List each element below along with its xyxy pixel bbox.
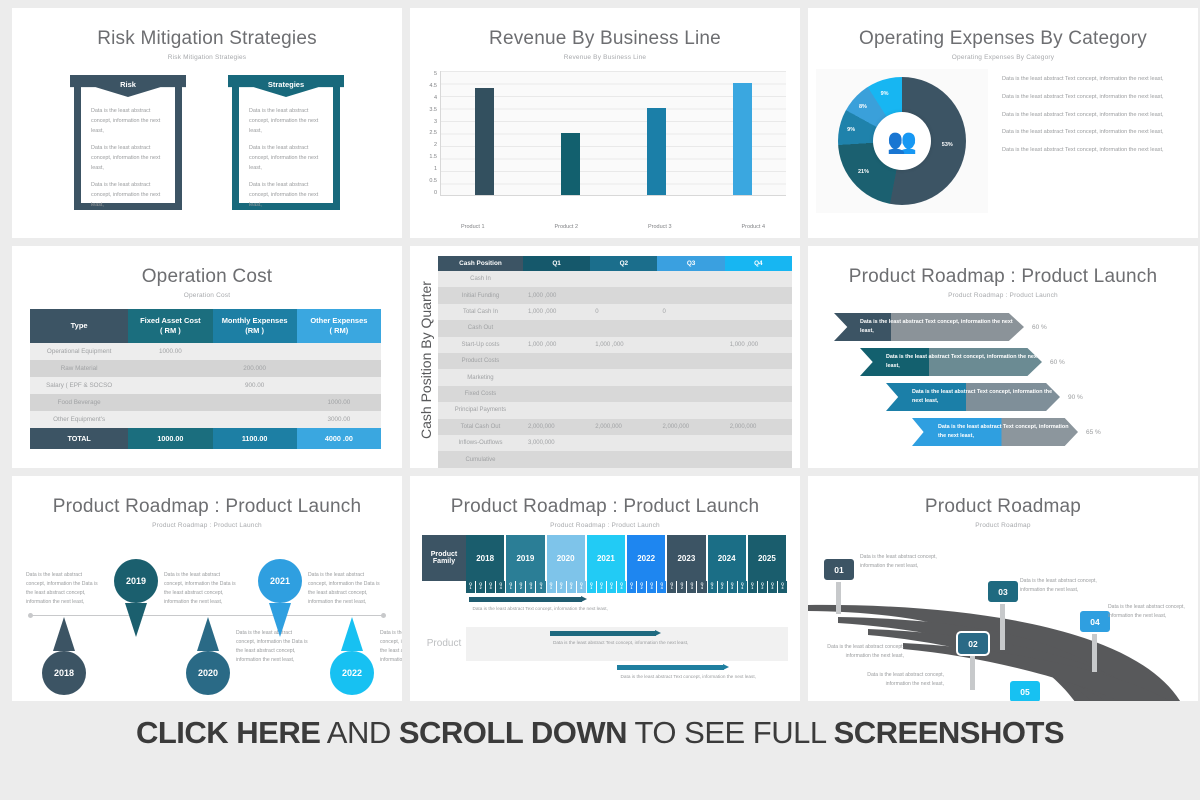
timeline: 2018Data is the least abstract concept, … (22, 537, 392, 697)
product-family-label: Product Family (422, 535, 466, 581)
gantt-quarter-row: Q1Q2Q3Q4Q1Q2Q3Q4Q1Q2Q3Q4Q1Q2Q3Q4Q1Q2Q3Q4… (422, 581, 788, 593)
table-row: Marketing (438, 369, 792, 385)
table-cell (523, 451, 590, 468)
gantt-task-label: Data is the least abstract Text concept,… (472, 605, 632, 613)
table-cell: Food Beverage (30, 394, 128, 411)
road-sign[interactable]: 05 (1008, 679, 1042, 701)
gantt-quarter[interactable]: Q4 (778, 581, 788, 593)
gantt-quarter[interactable]: Q2 (557, 581, 567, 593)
table-row: Operational Equipment1000.00 (30, 343, 381, 360)
sign-post (970, 656, 975, 690)
arrow-shape: Data is the least abstract Text concept,… (912, 418, 1078, 446)
page-title: Revenue By Business Line (410, 8, 800, 50)
sign-post (836, 582, 841, 614)
gantt-quarter[interactable]: Q2 (516, 581, 526, 593)
legend-item: Data is the least abstract Text concept,… (1002, 128, 1186, 138)
table-row: Total Cash Out2,000,0002,000,0002,000,00… (438, 419, 792, 435)
gantt-quarter[interactable]: Q1 (506, 581, 516, 593)
gantt-year[interactable]: 2018 (466, 535, 506, 581)
table-cell: 900.00 (213, 377, 297, 394)
column-header: Q3 (657, 256, 724, 271)
gantt-year[interactable]: 2024 (708, 535, 748, 581)
page-title: Product Roadmap : Product Launch (410, 476, 800, 518)
gantt-lane: Data is the least abstract Text concept,… (466, 593, 788, 627)
clipboard-paragraph: Data is the least abstract concept, info… (91, 106, 165, 136)
pin-tail-icon (53, 617, 75, 651)
gantt-quarter[interactable]: Q3 (687, 581, 697, 593)
table-cell (590, 271, 657, 287)
table-cell (297, 343, 381, 360)
gantt-quarter[interactable]: Q1 (466, 581, 476, 593)
table-cell: Total Cash In (438, 304, 523, 320)
table-cell: Salary ( EPF & SOCSO (30, 377, 128, 394)
panel-risk-mitigation: Risk Mitigation Strategies Risk Mitigati… (12, 8, 402, 238)
table-cell: 4000 .00 (297, 428, 381, 449)
table-row: Fixed Costs (438, 386, 792, 402)
panel-operating-expenses: Operating Expenses By Category Operating… (808, 8, 1198, 238)
timeline-year: 2021 (258, 559, 302, 603)
gantt-year-row: Product Family 2018201920202021202220232… (422, 535, 788, 581)
arrow-percent: 60 % (1032, 324, 1047, 331)
table-cell: Other Equipment's (30, 411, 128, 428)
table-cell (725, 386, 792, 402)
operation-cost-table: TypeFixed Asset Cost( RM )Monthly Expens… (30, 309, 381, 449)
bar-series (441, 71, 786, 195)
gantt-quarters: Q1Q2Q3Q4Q1Q2Q3Q4Q1Q2Q3Q4Q1Q2Q3Q4Q1Q2Q3Q4… (466, 581, 788, 593)
panel-roadmap-timeline: Product Roadmap : Product Launch Product… (12, 476, 402, 701)
gantt-year[interactable]: 2022 (627, 535, 667, 581)
cash-position-table: Cash PositionQ1Q2Q3Q4 Cash InInitial Fun… (438, 256, 792, 468)
x-tick-label: Product 3 (630, 224, 690, 230)
table-cell (657, 320, 724, 336)
table-body: Cash InInitial Funding1,000 ,000Total Ca… (438, 271, 792, 468)
gantt-lanes-wrap: Product Data is the least abstract Text … (422, 593, 788, 695)
table-row: Total Cash In1,000 ,00000 (438, 304, 792, 320)
gantt-lanes: Data is the least abstract Text concept,… (466, 593, 788, 695)
table-cell (213, 343, 297, 360)
table-cell (657, 369, 724, 385)
gantt-bar[interactable] (617, 665, 723, 670)
table-header-row: TypeFixed Asset Cost( RM )Monthly Expens… (30, 309, 381, 343)
footer-part-1: CLICK HERE (136, 715, 320, 750)
legend-item: Data is the least abstract Text concept,… (1002, 146, 1186, 156)
timeline-pin[interactable]: 2021 (258, 559, 302, 637)
gantt-year[interactable]: 2023 (667, 535, 707, 581)
table-cell: Fixed Costs (438, 386, 523, 402)
table-cell: Start-Up costs (438, 337, 523, 353)
road-sign[interactable]: 01 (822, 557, 856, 614)
table-cell (128, 377, 212, 394)
y-tick: 5 (424, 71, 437, 77)
table-cell (590, 353, 657, 369)
bar[interactable] (561, 133, 580, 195)
footer-part-4: TO SEE FULL (627, 715, 834, 750)
column-header: Type (30, 309, 128, 343)
road-graphic: 01 02 03 04 05 Data is the least abstrac… (808, 531, 1198, 701)
table-cell (657, 435, 724, 451)
table-cell: 3,000,000 (523, 435, 590, 451)
gantt-task-label: Data is the least abstract Text concept,… (621, 673, 781, 681)
table-cell: 0 (657, 304, 724, 320)
table-header-row: Cash PositionQ1Q2Q3Q4 (438, 256, 792, 271)
timeline-year: 2022 (330, 651, 374, 695)
table-cell (523, 271, 590, 287)
gantt-quarter[interactable]: Q4 (496, 581, 506, 593)
timeline-year: 2018 (42, 651, 86, 695)
gantt-quarter[interactable]: Q1 (627, 581, 637, 593)
timeline-pin[interactable]: 2022 (330, 617, 374, 695)
sign-post (1000, 604, 1005, 650)
gantt-lane: Data is the least abstract Text concept,… (466, 661, 788, 695)
table-row: Start-Up costs1,000 ,0001,000 ,0001,000 … (438, 337, 792, 353)
table-cell (213, 394, 297, 411)
table-cell (590, 451, 657, 468)
clipboard-paragraph: Data is the least abstract concept, info… (91, 143, 165, 173)
table-cell (297, 377, 381, 394)
gantt-quarter[interactable]: Q1 (587, 581, 597, 593)
page-title: Risk Mitigation Strategies (12, 8, 402, 50)
plot-area (440, 71, 786, 196)
table-row: Principal Payments (438, 402, 792, 418)
gantt-quarter[interactable]: Q1 (667, 581, 677, 593)
donut-slice-label: 21% (858, 169, 869, 175)
y-tick: 0 (424, 190, 437, 196)
table-cell (725, 304, 792, 320)
footer-banner[interactable]: CLICK HERE AND SCROLL DOWN TO SEE FULL S… (0, 715, 1200, 751)
road-sign[interactable]: 02 (956, 631, 990, 690)
arrow-row[interactable]: Data is the least abstract Text concept,… (886, 383, 1198, 411)
road-sign-number: 04 (1078, 609, 1112, 634)
table-cell (590, 402, 657, 418)
road-note: Data is the least abstract concept, info… (826, 643, 904, 661)
road-sign[interactable]: 03 (986, 579, 1020, 650)
legend-item: Data is the least abstract Text concept,… (1002, 75, 1186, 85)
table-cell (725, 287, 792, 303)
page-title: Product Roadmap (808, 476, 1198, 518)
slide-grid: Risk Mitigation Strategies Risk Mitigati… (0, 0, 1200, 701)
bar[interactable] (733, 83, 752, 195)
table-cell (523, 386, 590, 402)
gantt-year[interactable]: 2020 (547, 535, 587, 581)
gantt-quarter[interactable]: Q4 (617, 581, 627, 593)
donut-slice-label: 53% (942, 142, 953, 148)
timeline-pin[interactable]: 2020 (186, 617, 230, 695)
gantt-quarter[interactable]: Q1 (547, 581, 557, 593)
clipboard-paragraph: Data is the least abstract concept, info… (249, 180, 323, 210)
road-sign[interactable]: 04 (1078, 609, 1112, 672)
timeline-note: Data is the least abstract concept, info… (26, 571, 102, 607)
table-cell (523, 369, 590, 385)
footer-part-3: SCROLL DOWN (399, 715, 627, 750)
table-cell: 1,000 ,000 (523, 337, 590, 353)
pin-tail-icon (269, 603, 291, 637)
legend-list: Data is the least abstract Text concept,… (988, 69, 1190, 213)
page-subtitle: Product Roadmap : Product Launch (12, 518, 402, 529)
table-cell: 2,000,000 (657, 419, 724, 435)
timeline-year: 2019 (114, 559, 158, 603)
arrow-label: Data is the least abstract Text concept,… (886, 353, 1042, 370)
table-row: Initial Funding1,000 ,000 (438, 287, 792, 303)
timeline-note: Data is the least abstract concept, info… (164, 571, 240, 607)
gantt-bar[interactable] (550, 631, 656, 636)
table-cell (725, 435, 792, 451)
table-cell: 200.000 (213, 360, 297, 377)
column-header: Q4 (725, 256, 792, 271)
table-cell: 3000.00 (297, 411, 381, 428)
y-tick: 0.5 (424, 178, 437, 184)
legend-item: Data is the least abstract Text concept,… (1002, 111, 1186, 121)
spacer (422, 581, 466, 593)
column-header: Fixed Asset Cost( RM ) (128, 309, 212, 343)
table-row: Cumulative (438, 451, 792, 468)
gantt-quarter[interactable]: Q4 (738, 581, 748, 593)
x-tick-label: Product 1 (443, 224, 503, 230)
page-title: Operating Expenses By Category (808, 8, 1198, 50)
gantt-quarter[interactable]: Q2 (637, 581, 647, 593)
table-cell: 1000.00 (297, 394, 381, 411)
timeline-note: Data is the least abstract concept, info… (380, 629, 402, 665)
table-cell (725, 369, 792, 385)
clipboard-paragraph: Data is the least abstract concept, info… (249, 143, 323, 173)
gantt-row-label: Product (422, 593, 466, 695)
panel-cash-position: Cash Position By Quarter Cash PositionQ1… (410, 246, 800, 468)
table-cell (590, 435, 657, 451)
table-row: Food Beverage1000.00 (30, 394, 381, 411)
table-cell (128, 411, 212, 428)
gantt-quarter[interactable]: Q2 (677, 581, 687, 593)
table-cell: 1,000 ,000 (725, 337, 792, 353)
gantt-lane: Data is the least abstract Text concept,… (466, 627, 788, 661)
page-subtitle: Revenue By Business Line (410, 50, 800, 61)
donut-ring[interactable]: 👥 53%21%9%8%9% (838, 77, 966, 205)
donut-slice-label: 9% (847, 127, 855, 133)
table-cell (657, 402, 724, 418)
table-cell: Cash In (438, 271, 523, 287)
table-cell (657, 287, 724, 303)
table-cell: 2,000,000 (523, 419, 590, 435)
table-cell: Initial Funding (438, 287, 523, 303)
table-row: Inflows-Outflows3,000,000 (438, 435, 792, 451)
page-subtitle: Operating Expenses By Category (808, 50, 1198, 61)
bar[interactable] (475, 88, 494, 195)
arrow-list: Data is the least abstract Text concept,… (808, 313, 1198, 446)
pin-tail-icon (125, 603, 147, 637)
panel-roadmap-gantt: Product Roadmap : Product Launch Product… (410, 476, 800, 701)
table-cell: 1100.00 (213, 428, 297, 449)
gantt-quarter[interactable]: Q1 (748, 581, 758, 593)
clipboard-card-strategies[interactable]: Strategies Data is the least abstract co… (232, 75, 340, 210)
sign-post (1092, 634, 1097, 672)
road-note: Data is the least abstract concept, info… (1108, 603, 1186, 621)
table-cell (590, 320, 657, 336)
column-header: Cash Position (438, 256, 523, 271)
y-tick: 1.5 (424, 154, 437, 160)
y-tick: 3 (424, 119, 437, 125)
page-subtitle: Risk Mitigation Strategies (12, 50, 402, 61)
gantt-quarter[interactable]: Q2 (597, 581, 607, 593)
table-total-row: TOTAL1000.001100.004000 .00 (30, 428, 381, 449)
gantt-quarter[interactable]: Q3 (567, 581, 577, 593)
gantt-quarter[interactable]: Q2 (758, 581, 768, 593)
gantt-quarter[interactable]: Q2 (718, 581, 728, 593)
column-header: Q2 (590, 256, 657, 271)
gantt-quarter[interactable]: Q3 (768, 581, 778, 593)
vertical-title: Cash Position By Quarter (416, 252, 438, 468)
cash-wrap: Cash Position By Quarter Cash PositionQ1… (410, 246, 800, 468)
table-cell: 2,000,000 (725, 419, 792, 435)
clipboard-card-risk[interactable]: Risk Data is the least abstract concept,… (74, 75, 182, 210)
footer-part-2: AND (320, 715, 398, 750)
table-cell: Cumulative (438, 451, 523, 468)
table-cell: 1000.00 (128, 343, 212, 360)
arrow-row[interactable]: Data is the least abstract Text concept,… (860, 348, 1198, 376)
table-cell (128, 394, 212, 411)
gantt-quarter[interactable]: Q3 (728, 581, 738, 593)
gantt-quarter[interactable]: Q4 (657, 581, 667, 593)
arrow-row[interactable]: Data is the least abstract Text concept,… (912, 418, 1198, 446)
gantt-bar[interactable] (469, 597, 582, 602)
arrow-row[interactable]: Data is the least abstract Text concept,… (834, 313, 1198, 341)
timeline-pin[interactable]: 2018 (42, 617, 86, 695)
column-header: Other Expenses( RM) (297, 309, 381, 343)
page-subtitle: Product Roadmap : Product Launch (410, 518, 800, 529)
table-cell (657, 353, 724, 369)
clipboard-row: Risk Data is the least abstract concept,… (12, 75, 402, 210)
table-cell (523, 353, 590, 369)
timeline-note: Data is the least abstract concept, info… (308, 571, 384, 607)
panel-operation-cost: Operation Cost Operation Cost TypeFixed … (12, 246, 402, 468)
table-cell: 1,000 ,000 (523, 304, 590, 320)
timeline-year: 2020 (186, 651, 230, 695)
arrow-percent: 90 % (1068, 394, 1083, 401)
gantt-year[interactable]: 2021 (587, 535, 627, 581)
arrow-label: Data is the least abstract Text concept,… (860, 318, 1024, 335)
gantt-quarter[interactable]: Q3 (486, 581, 496, 593)
road-note: Data is the least abstract concept, info… (866, 671, 944, 689)
y-tick: 2 (424, 142, 437, 148)
gantt-quarter[interactable]: Q3 (647, 581, 657, 593)
table-cell (128, 360, 212, 377)
road-sign-number: 03 (986, 579, 1020, 604)
table-cell: Raw Material (30, 360, 128, 377)
x-tick-label: Product 4 (723, 224, 783, 230)
table-cell (657, 271, 724, 287)
table-cell (725, 402, 792, 418)
table-cell (297, 360, 381, 377)
gantt-year[interactable]: 2019 (506, 535, 546, 581)
y-tick: 2.5 (424, 130, 437, 136)
gantt-years: 20182019202020212022202320242025 (466, 535, 788, 581)
table-cell (725, 353, 792, 369)
table-cell: Operational Equipment (30, 343, 128, 360)
table-cell: Product Costs (438, 353, 523, 369)
table-cell (590, 287, 657, 303)
donut-row: 👥 53%21%9%8%9% Data is the least abstrac… (808, 69, 1198, 213)
page-title: Operation Cost (12, 246, 402, 288)
arrow-label: Data is the least abstract Text concept,… (938, 423, 1078, 440)
table-row: Cash Out (438, 320, 792, 336)
clipboard-paragraph: Data is the least abstract concept, info… (249, 106, 323, 136)
pin-tail-icon (341, 617, 363, 651)
table-row: Product Costs (438, 353, 792, 369)
gantt-quarter[interactable]: Q4 (577, 581, 587, 593)
clipboard-paragraph: Data is the least abstract concept, info… (91, 180, 165, 210)
bar[interactable] (647, 108, 666, 195)
donut-slice-label: 9% (881, 91, 889, 97)
page-subtitle: Operation Cost (12, 288, 402, 299)
table-cell: 1000.00 (128, 428, 212, 449)
gantt-quarter[interactable]: Q1 (708, 581, 718, 593)
y-axis-ticks: 54.543.532.521.510.50 (424, 71, 440, 196)
donut-chart: 👥 53%21%9%8%9% (816, 69, 988, 213)
table-cell (657, 386, 724, 402)
table-cell: Principal Payments (438, 402, 523, 418)
table-cell (523, 320, 590, 336)
gantt-year[interactable]: 2025 (748, 535, 788, 581)
panel-roadmap-arrows: Product Roadmap : Product Launch Product… (808, 246, 1198, 468)
road-sign-number: 05 (1008, 679, 1042, 701)
table-cell (725, 271, 792, 287)
column-header: Q1 (523, 256, 590, 271)
table-cell (590, 369, 657, 385)
table-cell (657, 337, 724, 353)
table-cell: 1,000 ,000 (523, 287, 590, 303)
x-tick-label: Product 2 (536, 224, 596, 230)
gantt-quarter[interactable]: Q4 (697, 581, 707, 593)
page-title: Product Roadmap : Product Launch (12, 476, 402, 518)
bar-chart: 54.543.532.521.510.50 (424, 71, 786, 219)
table-row: Cash In (438, 271, 792, 287)
y-tick: 1 (424, 166, 437, 172)
table-cell: 1,000 ,000 (590, 337, 657, 353)
page-subtitle: Product Roadmap : Product Launch (808, 288, 1198, 299)
table-cell: Total Cash Out (438, 419, 523, 435)
table-cell (657, 451, 724, 468)
gantt-chart: Product Family 2018201920202021202220232… (422, 535, 788, 695)
table-cell (725, 320, 792, 336)
footer-part-5: SCREENSHOTS (834, 715, 1064, 750)
arrow-label: Data is the least abstract Text concept,… (912, 388, 1060, 405)
table-cell (213, 411, 297, 428)
arrow-shape: Data is the least abstract Text concept,… (886, 383, 1060, 411)
people-icon: 👥 (873, 112, 931, 170)
road-note: Data is the least abstract concept, info… (860, 553, 938, 571)
road-note: Data is the least abstract concept, info… (1020, 577, 1098, 595)
arrow-shape: Data is the least abstract Text concept,… (860, 348, 1042, 376)
arrow-percent: 65 % (1086, 429, 1101, 436)
road-sign-number: 02 (956, 631, 990, 656)
table-cell (590, 386, 657, 402)
y-tick: 4 (424, 95, 437, 101)
table-cell: 0 (590, 304, 657, 320)
table-row: Other Equipment's3000.00 (30, 411, 381, 428)
table-cell: Marketing (438, 369, 523, 385)
table-cell (725, 451, 792, 468)
timeline-pin[interactable]: 2019 (114, 559, 158, 637)
gantt-quarter[interactable]: Q4 (536, 581, 546, 593)
table-body: Operational Equipment1000.00Raw Material… (30, 343, 381, 449)
panel-product-roadmap-road: Product Roadmap Product Roadmap 01 02 03… (808, 476, 1198, 701)
gantt-quarter[interactable]: Q2 (476, 581, 486, 593)
y-tick: 3.5 (424, 107, 437, 113)
gantt-task-label: Data is the least abstract Text concept,… (553, 639, 713, 647)
arrow-percent: 60 % (1050, 359, 1065, 366)
gantt-quarter[interactable]: Q3 (607, 581, 617, 593)
panel-revenue-by-business-line: Revenue By Business Line Revenue By Busi… (410, 8, 800, 238)
table-cell (523, 402, 590, 418)
gantt-quarter[interactable]: Q3 (526, 581, 536, 593)
table-row: Raw Material200.000 (30, 360, 381, 377)
